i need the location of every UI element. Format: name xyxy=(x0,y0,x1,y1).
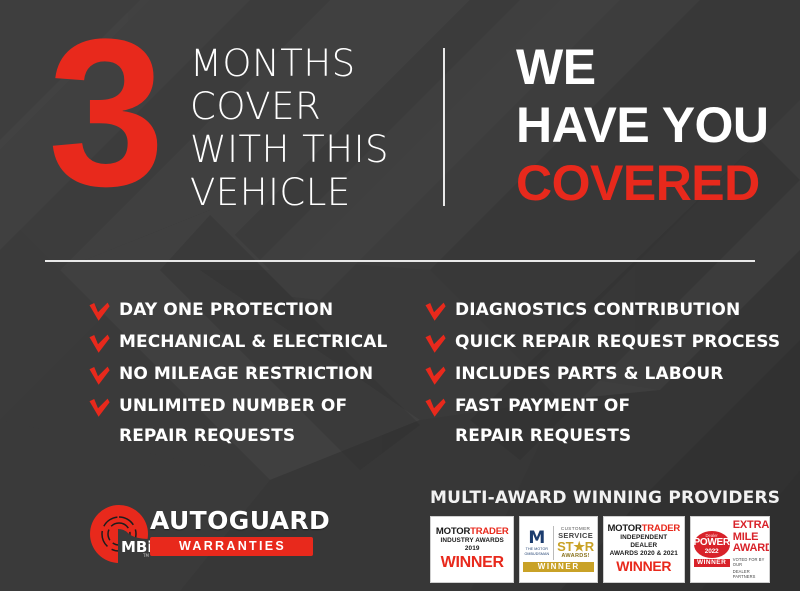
badge-line-4: AWARDS! xyxy=(557,553,594,560)
award-badge-list: MOTORTRADER INDUSTRY AWARDS 2019 WINNER … xyxy=(430,516,770,583)
headline-right-line-2: HAVE YOU xyxy=(516,96,769,154)
badge-year: AWARDS 2020 & 2021 xyxy=(607,550,681,558)
award-badge-motor-trader-2019: MOTORTRADER INDUSTRY AWARDS 2019 WINNER xyxy=(430,516,514,583)
check-icon xyxy=(88,302,111,322)
dealer-power-oval: Dealer POWER 2022 xyxy=(694,531,730,558)
check-icon xyxy=(424,302,447,322)
cover-headline-right: WE HAVE YOU COVERED xyxy=(516,38,769,212)
badge-sub-1: VOTED FOR BY OUR xyxy=(733,557,770,567)
autoguard-warranties-logo: MBi TM AUTOGUARD WARRANTIES xyxy=(88,503,313,565)
feature-label: NO MILEAGE RESTRICTION xyxy=(119,364,373,384)
badge-brand-red: TRADER xyxy=(642,523,680,534)
mbi-logo-icon: MBi TM xyxy=(88,503,150,565)
autoguard-wordmark: AUTOGUARD WARRANTIES xyxy=(150,507,313,556)
ombudsman-mark-icon: M xyxy=(523,530,550,547)
badge-year: 2019 xyxy=(465,545,480,552)
footer-block: MBi TM AUTOGUARD WARRANTIES MULTI-AWARD … xyxy=(0,485,800,591)
badge-brand-dark: MOTOR xyxy=(436,526,470,537)
feature-label: MECHANICAL & ELECTRICAL xyxy=(119,332,387,352)
badge-oval-main: POWER xyxy=(694,538,730,548)
badge-line-3: ST★R xyxy=(557,540,594,553)
headline-block: 3 MONTHS COVER WITH THIS VEHICLE WE HAVE… xyxy=(0,0,800,262)
awards-title: MULTI-AWARD WINNING PROVIDERS xyxy=(430,485,770,508)
feature-column-right: DIAGNOSTICS CONTRIBUTION QUICK REPAIR RE… xyxy=(424,300,784,449)
check-icon xyxy=(88,366,111,386)
autoguard-name: AUTOGUARD xyxy=(150,507,313,534)
awards-section: MULTI-AWARD WINNING PROVIDERS MOTORTRADE… xyxy=(430,485,770,583)
feature-label: DIAGNOSTICS CONTRIBUTION xyxy=(455,300,740,320)
feature-item: DIAGNOSTICS CONTRIBUTION xyxy=(424,300,784,330)
badge-brand-red: TRADER xyxy=(470,526,508,537)
badge-divider xyxy=(553,526,554,560)
feature-label: QUICK REPAIR REQUEST PROCESS xyxy=(455,332,780,352)
feature-label: DAY ONE PROTECTION xyxy=(119,300,333,320)
check-icon xyxy=(88,398,111,418)
badge-brand-dark: MOTOR xyxy=(607,523,641,534)
check-icon xyxy=(424,366,447,386)
check-icon xyxy=(424,334,447,354)
badge-brand: MOTORTRADER xyxy=(434,527,510,537)
feature-item: QUICK REPAIR REQUEST PROCESS xyxy=(424,332,784,362)
headline-left-line-1: MONTHS xyxy=(190,42,430,85)
headline-left-line-4: VEHICLE xyxy=(190,171,430,214)
badge-result: WINNER xyxy=(607,559,681,574)
ombudsman-mark-text: THE MOTOR OMBUDSMAN xyxy=(523,547,550,556)
feature-item: UNLIMITED NUMBER OF REPAIR REQUESTS xyxy=(88,396,418,447)
feature-label: INCLUDES PARTS & LABOUR xyxy=(455,364,723,384)
badge-line-3: AWARD xyxy=(733,543,770,555)
award-badge-motor-trader-2020-2021: MOTORTRADER INDEPENDENT DEALER AWARDS 20… xyxy=(603,516,685,583)
headline-right-line-3: COVERED xyxy=(516,154,769,212)
feature-item: NO MILEAGE RESTRICTION xyxy=(88,364,418,394)
feature-item: DAY ONE PROTECTION xyxy=(88,300,418,330)
feature-label: UNLIMITED NUMBER OF xyxy=(119,396,347,416)
feature-label: FAST PAYMENT OF xyxy=(455,396,630,416)
feature-item: INCLUDES PARTS & LABOUR xyxy=(424,364,784,394)
svg-text:TM: TM xyxy=(142,553,149,558)
cover-months-number: 3 xyxy=(48,10,159,215)
badge-result: WINNER xyxy=(434,554,510,571)
headline-horizontal-divider xyxy=(45,260,755,262)
award-badge-customer-service-star: M THE MOTOR OMBUDSMAN CUSTOMER SERVICE S… xyxy=(519,516,598,583)
badge-brand: MOTORTRADER xyxy=(607,524,681,534)
check-icon xyxy=(88,334,111,354)
badge-subtitle: INDUSTRY AWARDS 2019 xyxy=(434,537,510,553)
feature-item: FAST PAYMENT OF REPAIR REQUESTS xyxy=(424,396,784,447)
badge-ribbon: WINNER xyxy=(523,562,594,572)
headline-vertical-divider xyxy=(443,48,445,206)
award-badge-dealer-power-extra-mile: Dealer POWER 2022 WINNER EXTRA MILE AWAR… xyxy=(690,516,771,583)
feature-label-line2: REPAIR REQUESTS xyxy=(119,426,418,447)
badge-ribbon: WINNER xyxy=(694,559,730,567)
cover-headline-left: MONTHS COVER WITH THIS VEHICLE xyxy=(190,42,430,214)
feature-item: MECHANICAL & ELECTRICAL xyxy=(88,332,418,362)
check-icon xyxy=(424,398,447,418)
badge-line-1: EXTRA xyxy=(733,520,770,532)
feature-label-line2: REPAIR REQUESTS xyxy=(455,426,784,447)
headline-left-line-2: COVER xyxy=(190,85,430,128)
badge-oval-year: 2022 xyxy=(694,548,730,555)
badge-sub-2: DEALER PARTNERS xyxy=(733,569,770,579)
badge-subtitle: INDEPENDENT DEALER xyxy=(607,534,681,550)
autoguard-subtitle: WARRANTIES xyxy=(150,537,313,556)
feature-column-left: DAY ONE PROTECTION MECHANICAL & ELECTRIC… xyxy=(88,300,418,449)
headline-right-line-1: WE xyxy=(516,38,769,96)
headline-left-line-3: WITH THIS xyxy=(190,128,430,171)
badge-subtitle-text: INDUSTRY AWARDS xyxy=(441,537,504,544)
